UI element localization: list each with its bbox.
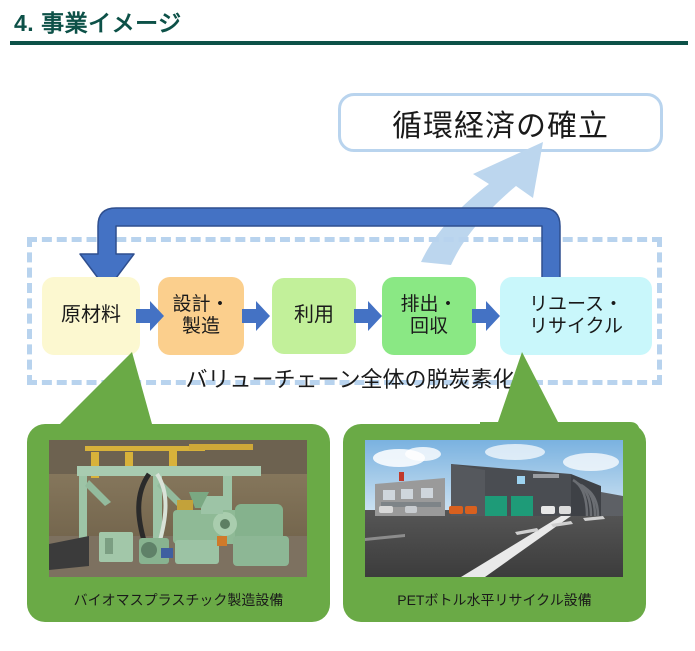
chain-step-design-manufacture: 設計・ 製造 bbox=[158, 277, 244, 355]
pet-bottle-horizontal-recycling-facility-photo bbox=[365, 440, 623, 577]
chain-step-use: 利用 bbox=[272, 278, 356, 354]
chain-step-reuse-recycle: リユース・ リサイクル bbox=[500, 277, 652, 355]
chain-arrow-right-icon bbox=[472, 301, 500, 331]
photo-caption: バイオマスプラスチック製造設備 bbox=[27, 590, 330, 610]
chain-arrow-right-icon bbox=[354, 301, 382, 331]
photo-panel-pet-recycling: PETボトル水平リサイクル設備 bbox=[343, 424, 646, 622]
chain-step-label: 利用 bbox=[294, 304, 334, 328]
chain-step-label: リユース・ リサイクル bbox=[529, 294, 623, 339]
chain-step-label: 排出・ 回収 bbox=[400, 294, 457, 339]
photo-caption: PETボトル水平リサイクル設備 bbox=[343, 590, 646, 610]
chain-step-raw-materials: 原材料 bbox=[42, 277, 140, 355]
chain-arrow-right-icon bbox=[136, 301, 164, 331]
chain-step-label: 原材料 bbox=[61, 304, 121, 328]
photo-frame bbox=[49, 440, 307, 577]
chain-step-label: 設計・ 製造 bbox=[172, 294, 229, 339]
slide-canvas: 4. 事業イメージ 循環経済の確立 原材料 設計・ 製造 利用 排出・ 回収 リ… bbox=[0, 0, 695, 651]
chain-step-discharge-collection: 排出・ 回収 bbox=[382, 277, 476, 355]
photo-panel-biomass: バイオマスプラスチック製造設備 bbox=[27, 424, 330, 622]
photo-frame bbox=[365, 440, 623, 577]
chain-arrow-right-icon bbox=[242, 301, 270, 331]
biomass-plastic-manufacturing-equipment-photo bbox=[49, 440, 307, 577]
